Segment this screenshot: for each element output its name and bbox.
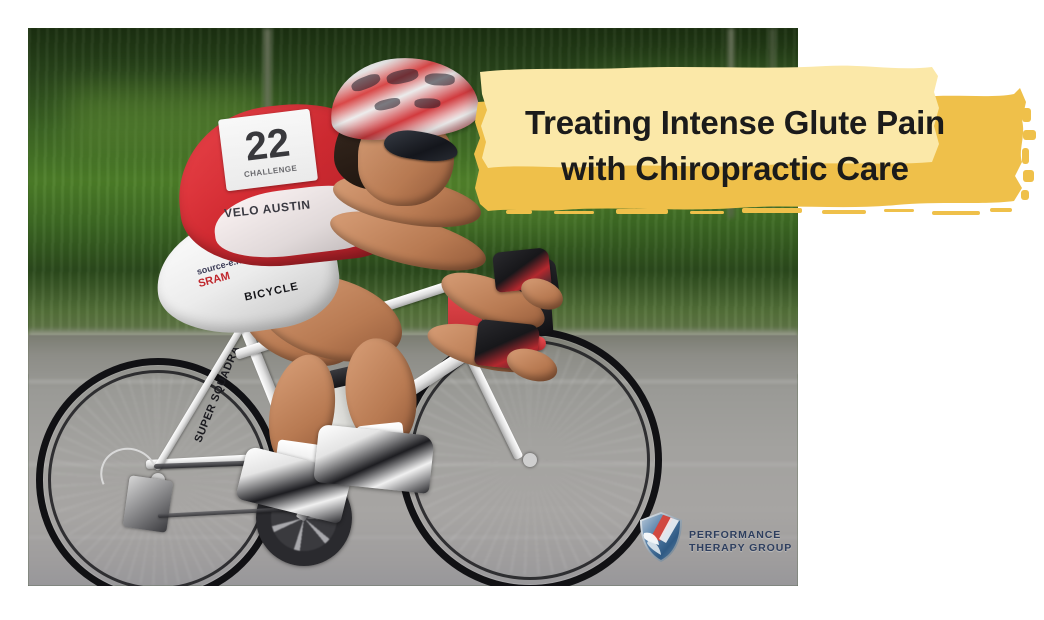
front-wheel-hub <box>523 453 537 467</box>
logo-line-1: PERFORMANCE <box>689 529 792 542</box>
race-number: 22 <box>243 122 292 167</box>
helmet-vent <box>385 67 419 86</box>
helmet-vent <box>425 73 455 86</box>
helmet-vent <box>374 96 402 112</box>
shield-icon <box>638 511 684 563</box>
race-number-plate: 22 CHALLENGE <box>218 109 318 192</box>
headline-line-1: Treating Intense Glute Pain <box>525 104 945 141</box>
logo-line-2: THERAPY GROUP <box>689 542 792 555</box>
logo-wordmark: PERFORMANCE THERAPY GROUP <box>689 519 792 555</box>
headline-line-2: with Chiropractic Care <box>470 146 1000 192</box>
headline: Treating Intense Glute Pain with Chiropr… <box>470 100 1000 191</box>
helmet-vent <box>350 71 382 93</box>
gold-brush-right-texture <box>1021 108 1036 200</box>
page-canvas: SUPER SQUADRA serotta <box>0 0 1044 620</box>
brand-logo: PERFORMANCE THERAPY GROUP <box>638 506 768 568</box>
rider-near-shoe <box>313 424 434 494</box>
helmet-vent <box>414 98 440 108</box>
